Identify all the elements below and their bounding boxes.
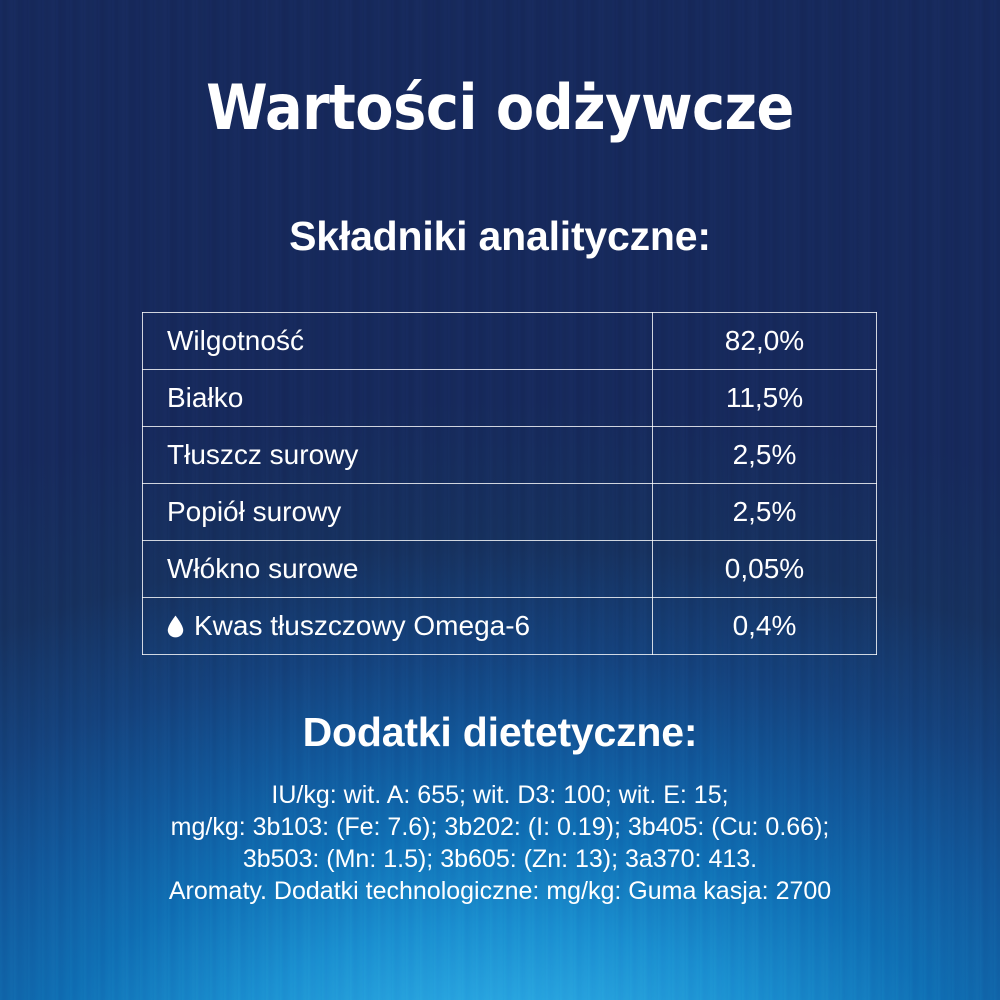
droplet-icon <box>167 615 184 638</box>
nutrient-value-cell: 82,0% <box>653 313 877 370</box>
nutrient-name-cell: Białko <box>143 370 653 427</box>
nutrient-label: Białko <box>167 382 243 414</box>
table-row: Białko 11,5% <box>143 370 877 427</box>
nutrient-name-wrap: Kwas tłuszczowy Omega-6 <box>167 610 652 642</box>
nutrient-value-cell: 2,5% <box>653 484 877 541</box>
nutrient-value-cell: 11,5% <box>653 370 877 427</box>
additives-line: mg/kg: 3b103: (Fe: 7.6); 3b202: (I: 0.19… <box>0 811 1000 843</box>
nutrient-label: Włókno surowe <box>167 553 358 585</box>
nutrient-name-cell: Wilgotność <box>143 313 653 370</box>
additives-section-heading: Dodatki dietetyczne: <box>0 708 1000 756</box>
nutrient-value-cell: 0,05% <box>653 541 877 598</box>
nutrient-value-cell: 0,4% <box>653 598 877 655</box>
analytical-constituents-table: Wilgotność 82,0% Białko 11,5% <box>142 312 877 655</box>
nutrient-label: Kwas tłuszczowy Omega-6 <box>194 610 530 642</box>
nutrient-name-cell: Tłuszcz surowy <box>143 427 653 484</box>
table-row: Popiół surowy 2,5% <box>143 484 877 541</box>
analytical-section-heading: Składniki analityczne: <box>0 212 1000 260</box>
nutrient-name-wrap: Tłuszcz surowy <box>167 439 652 471</box>
additives-line: Aromaty. Dodatki technologiczne: mg/kg: … <box>0 875 1000 907</box>
page-title: Wartości odżywcze <box>0 72 1000 144</box>
table-row: Włókno surowe 0,05% <box>143 541 877 598</box>
nutrient-name-wrap: Wilgotność <box>167 325 652 357</box>
nutrient-label: Wilgotność <box>167 325 304 357</box>
nutrient-name-wrap: Białko <box>167 382 652 414</box>
nutrient-value-cell: 2,5% <box>653 427 877 484</box>
table-row: Kwas tłuszczowy Omega-6 0,4% <box>143 598 877 655</box>
nutrient-name-cell: Popiół surowy <box>143 484 653 541</box>
nutrient-label: Tłuszcz surowy <box>167 439 358 471</box>
nutrient-label: Popiół surowy <box>167 496 341 528</box>
nutrition-label-page: Wartości odżywcze Składniki analityczne:… <box>0 0 1000 1000</box>
nutrient-name-wrap: Popiół surowy <box>167 496 652 528</box>
nutrient-name-wrap: Włókno surowe <box>167 553 652 585</box>
table-body: Wilgotność 82,0% Białko 11,5% <box>143 313 877 655</box>
table-row: Tłuszcz surowy 2,5% <box>143 427 877 484</box>
nutrient-name-cell: Kwas tłuszczowy Omega-6 <box>143 598 653 655</box>
table-row: Wilgotność 82,0% <box>143 313 877 370</box>
nutrient-name-cell: Włókno surowe <box>143 541 653 598</box>
content-area: Wartości odżywcze Składniki analityczne:… <box>0 0 1000 1000</box>
additives-detail-text: IU/kg: wit. A: 655; wit. D3: 100; wit. E… <box>0 779 1000 907</box>
additives-line: IU/kg: wit. A: 655; wit. D3: 100; wit. E… <box>0 779 1000 811</box>
additives-line: 3b503: (Mn: 1.5); 3b605: (Zn: 13); 3a370… <box>0 843 1000 875</box>
